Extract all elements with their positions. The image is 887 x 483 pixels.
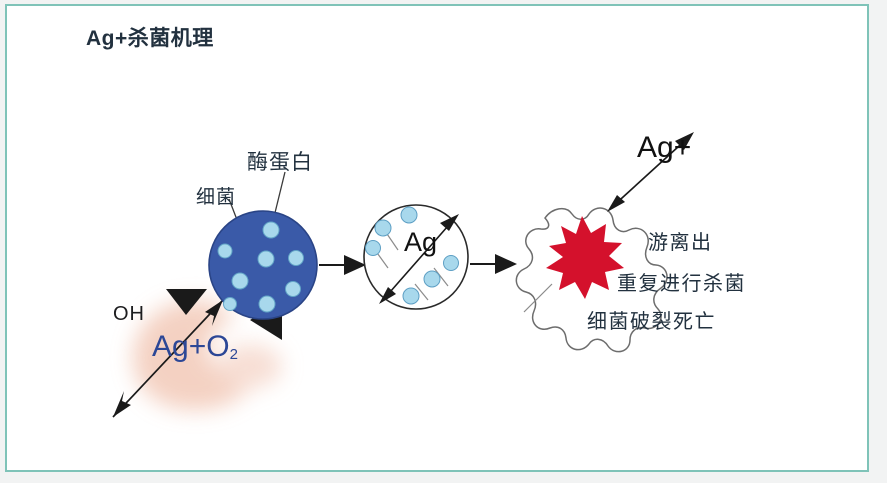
diagram-page: Ag+杀菌机理 酶蛋白 细菌 OH Ag+O2 Ag Ag+ 游离出 重复进行杀… (0, 0, 887, 483)
flow-arrow-2 (470, 254, 517, 274)
bacteria-cell (209, 211, 317, 319)
result-line-1: 游离出 (648, 226, 713, 255)
result-line-2: 重复进行杀菌 (617, 267, 746, 296)
label-ag-o2-text: Ag+O (152, 330, 230, 363)
label-bacteria: 细菌 (196, 182, 236, 209)
label-ag-o2: Ag+O2 (152, 330, 238, 364)
label-ag-in-circle: Ag (404, 227, 437, 258)
label-oh: OH (113, 303, 145, 326)
page-title: Ag+杀菌机理 (86, 22, 214, 52)
label-enzyme-protein: 酶蛋白 (247, 146, 313, 176)
label-ag-o2-subscript: 2 (230, 346, 238, 363)
result-line-3: 细菌破裂死亡 (587, 305, 716, 334)
diagram-artwork (0, 0, 887, 483)
label-ag-plus: Ag+ (637, 131, 691, 165)
flow-arrow-1 (319, 255, 366, 275)
